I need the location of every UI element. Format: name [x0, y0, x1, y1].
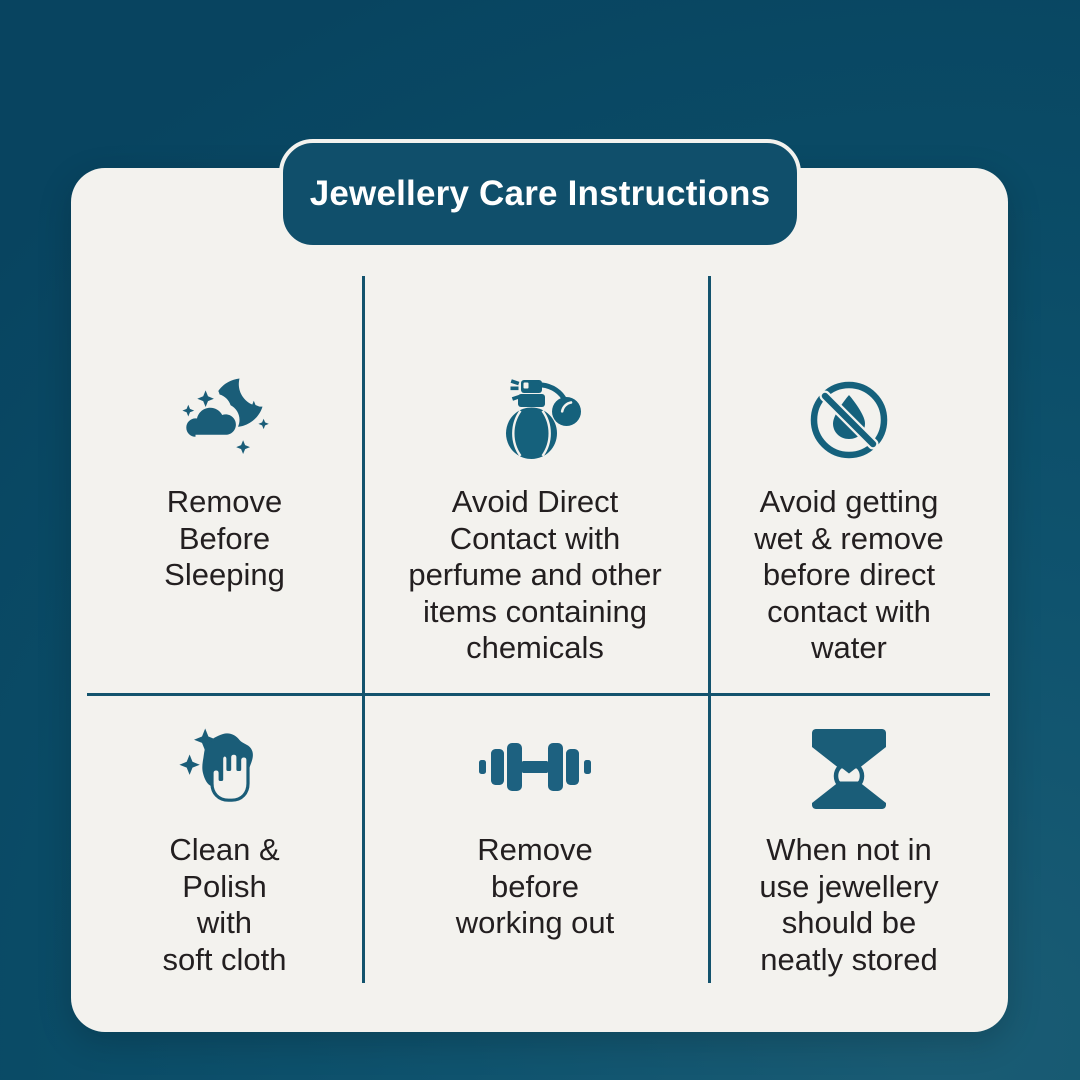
care-instructions-grid: Remove Before Sleeping — [87, 276, 990, 983]
polish-cloth-sparkle-icon — [179, 724, 271, 810]
page-title: Jewellery Care Instructions — [310, 174, 771, 214]
perfume-atomizer-icon — [485, 374, 585, 466]
care-cell-label: Clean & Polish with soft cloth — [162, 832, 286, 978]
care-cell-avoid-perfume: Avoid Direct Contact with perfume and ot… — [362, 276, 708, 694]
dumbbell-icon — [479, 724, 591, 810]
title-pill: Jewellery Care Instructions — [279, 139, 801, 249]
ring-box-icon — [810, 724, 888, 810]
care-cell-label: Remove before working out — [456, 832, 615, 942]
care-cell-clean-polish: Clean & Polish with soft cloth — [87, 694, 362, 983]
care-cell-store-neatly: When not in use jewellery should be neat… — [708, 694, 990, 983]
care-cell-remove-before-sleeping: Remove Before Sleeping — [87, 276, 362, 694]
no-water-drop-icon — [806, 374, 892, 466]
care-cell-remove-working-out: Remove before working out — [362, 694, 708, 983]
care-cell-avoid-water: Avoid getting wet & remove before direct… — [708, 276, 990, 694]
care-cell-label: Avoid getting wet & remove before direct… — [754, 484, 944, 667]
care-cell-label: Avoid Direct Contact with perfume and ot… — [408, 484, 661, 667]
moon-cloud-stars-icon — [177, 374, 273, 466]
care-cell-label: Remove Before Sleeping — [164, 484, 285, 594]
grid-divider-vertical-1 — [362, 276, 365, 983]
care-cell-label: When not in use jewellery should be neat… — [759, 832, 938, 978]
grid-divider-vertical-2 — [708, 276, 711, 983]
grid-divider-horizontal — [87, 693, 990, 696]
